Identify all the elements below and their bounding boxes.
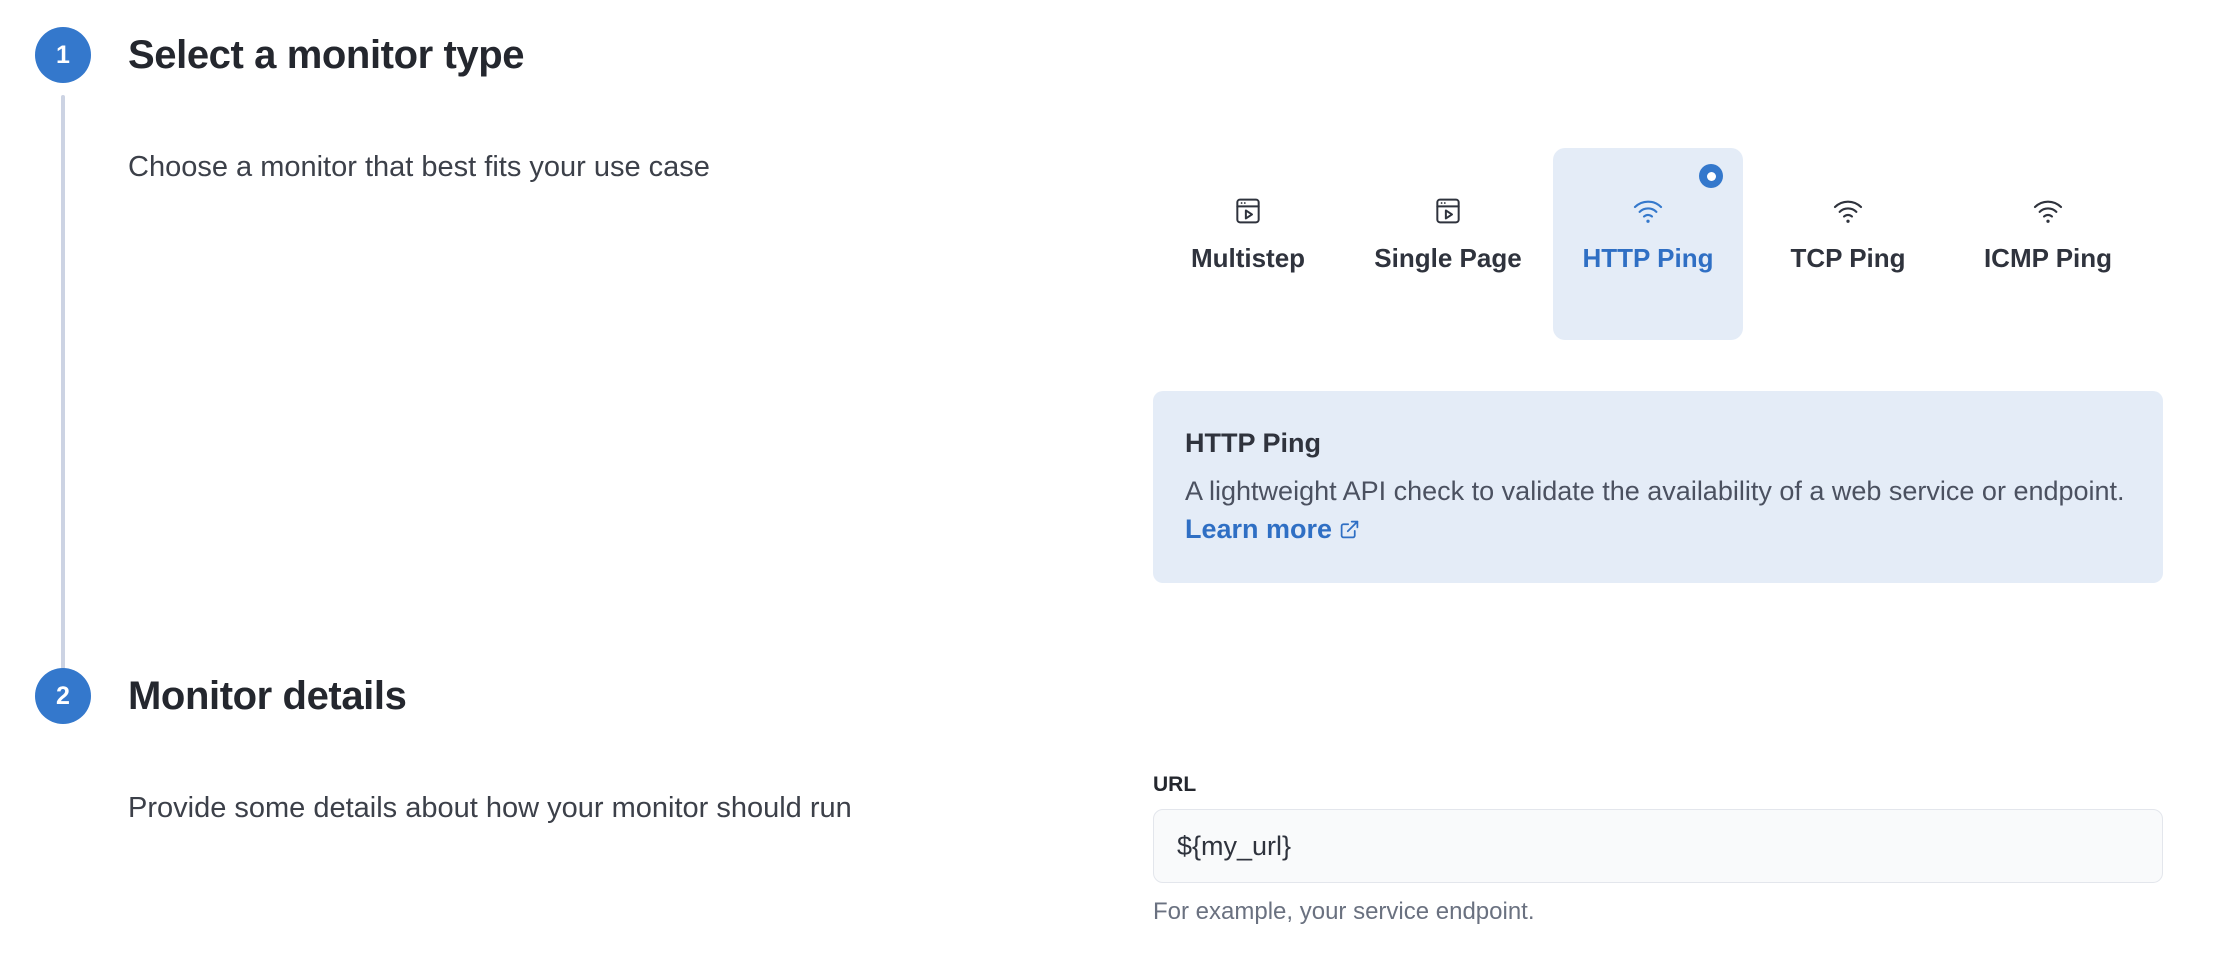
monitor-type-label: HTTP Ping [1583, 243, 1714, 274]
step-description-1: Choose a monitor that best fits your use… [128, 149, 710, 187]
step-badge-1: 1 [35, 27, 91, 83]
step-number-2: 2 [56, 684, 70, 709]
stepper-connector-line [61, 95, 65, 680]
external-link-icon[interactable] [1339, 512, 1360, 550]
monitor-type-label: TCP Ping [1790, 243, 1905, 274]
browser-play-icon [1432, 193, 1464, 229]
radio-selected-icon [1699, 164, 1723, 188]
step-title-2: Monitor details [128, 673, 406, 719]
url-field-label: URL [1153, 772, 2163, 797]
monitor-type-label: Single Page [1374, 243, 1521, 274]
learn-more-link[interactable]: Learn more [1185, 514, 1332, 544]
step-title-1: Select a monitor type [128, 32, 524, 78]
step-badge-2: 2 [35, 668, 91, 724]
monitor-type-info-panel: HTTP Ping A lightweight API check to val… [1153, 391, 2163, 583]
url-input[interactable] [1153, 809, 2163, 883]
monitor-type-card-single-page[interactable]: Single Page [1353, 148, 1543, 340]
wifi-icon [1631, 193, 1665, 229]
monitor-wizard-page: 1 Select a monitor type Choose a monitor… [0, 0, 2218, 958]
info-panel-title: HTTP Ping [1185, 427, 2131, 461]
wifi-icon [1831, 193, 1865, 229]
step-description-2: Provide some details about how your moni… [128, 790, 852, 828]
monitor-type-selector: Multistep Single Page [1153, 148, 2163, 340]
url-field-help-text: For example, your service endpoint. [1153, 896, 2163, 927]
monitor-type-card-icmp-ping[interactable]: ICMP Ping [1953, 148, 2143, 340]
wifi-icon [2031, 193, 2065, 229]
monitor-type-label: Multistep [1191, 243, 1305, 274]
monitor-type-label: ICMP Ping [1984, 243, 2112, 274]
step-number-1: 1 [56, 43, 70, 68]
monitor-type-card-multistep[interactable]: Multistep [1153, 148, 1343, 340]
url-field-block: URL For example, your service endpoint. [1153, 772, 2163, 927]
info-panel-body: A lightweight API check to validate the … [1185, 472, 2131, 551]
browser-play-icon [1232, 193, 1264, 229]
monitor-type-card-http-ping[interactable]: HTTP Ping [1553, 148, 1743, 340]
info-panel-body-text: A lightweight API check to validate the … [1185, 476, 2125, 506]
monitor-type-card-tcp-ping[interactable]: TCP Ping [1753, 148, 1943, 340]
